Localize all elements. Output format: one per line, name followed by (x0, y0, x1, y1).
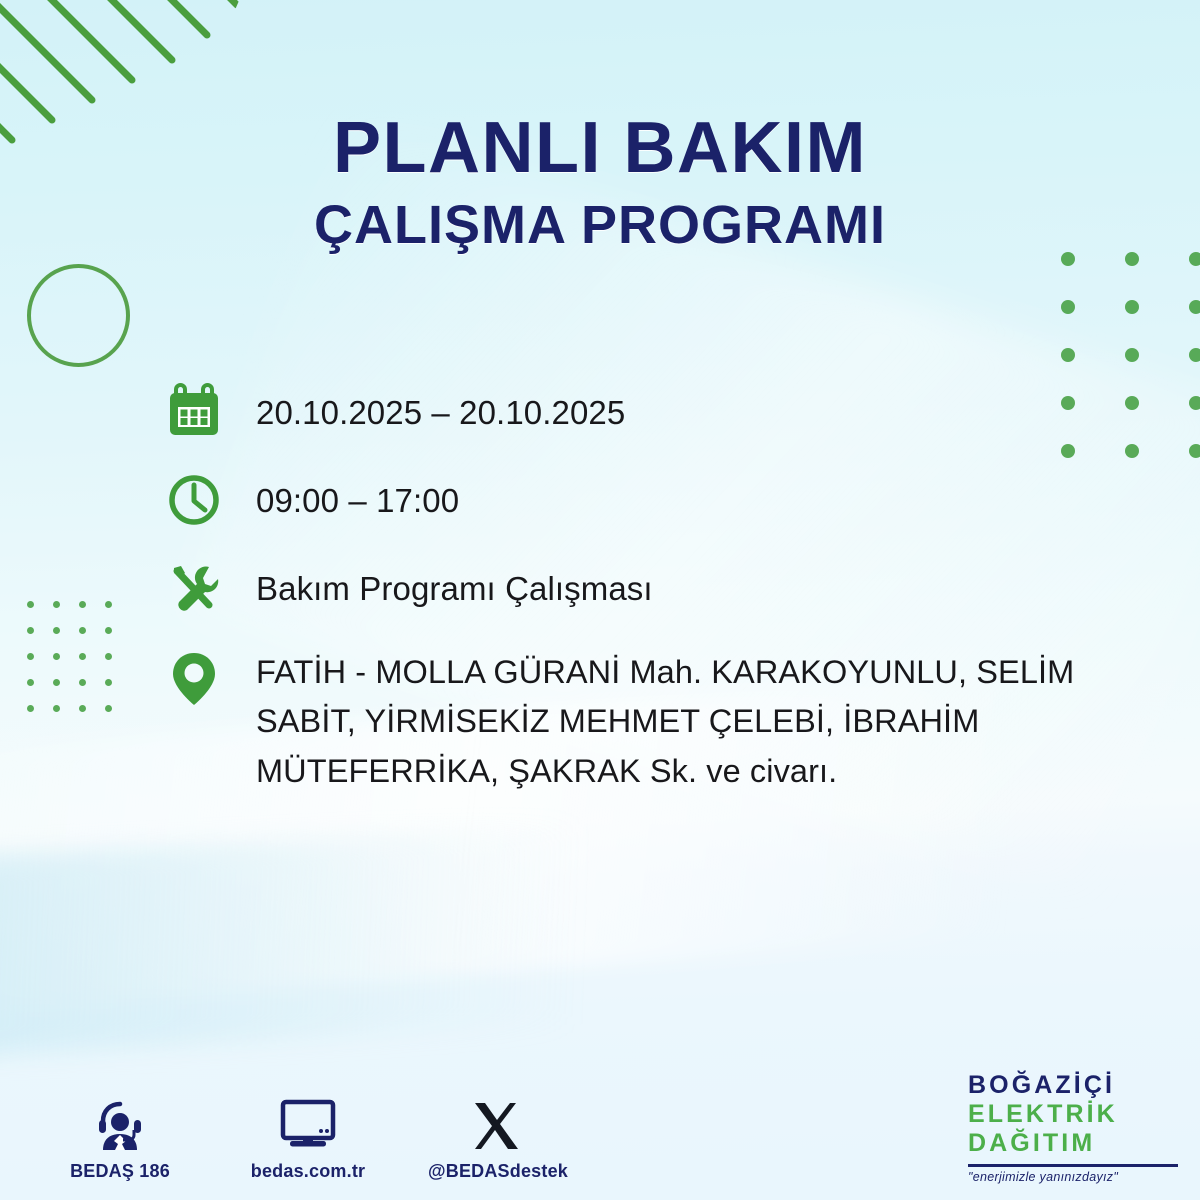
brand-tagline: "enerjimizle yanınızdayız" (968, 1170, 1178, 1184)
contact-item-website[interactable]: bedas.com.tr (240, 1090, 376, 1182)
footer: BEDAŞ 186 bedas.com.tr (0, 1020, 1200, 1200)
dot-grid-left-decoration (18, 592, 122, 722)
monitor-website-icon (240, 1090, 376, 1152)
x-social-icon (428, 1090, 564, 1152)
brand-line-dagitim: DAĞITIM (968, 1129, 1178, 1158)
calendar-icon (165, 380, 229, 444)
title-line-primary: PLANLI BAKIM (0, 112, 1200, 184)
title-line-secondary: ÇALIŞMA PROGRAMI (0, 198, 1200, 252)
headset-support-icon (52, 1090, 188, 1152)
contact-list: BEDAŞ 186 bedas.com.tr (52, 1090, 564, 1182)
brand-line-bogazici: BOĞAZİÇİ (968, 1071, 1178, 1100)
poster-canvas: PLANLI BAKIM ÇALIŞMA PROGRAMI (0, 0, 1200, 1200)
clock-icon (165, 468, 229, 532)
tools-icon (165, 556, 229, 620)
poster-title: PLANLI BAKIM ÇALIŞMA PROGRAMI (0, 112, 1200, 252)
contact-label-social: @BEDASdestek (428, 1161, 568, 1181)
circle-outline-decoration (27, 264, 130, 367)
detail-value-date: 20.10.2025 – 20.10.2025 (229, 380, 625, 437)
detail-value-time: 09:00 – 17:00 (229, 468, 459, 525)
detail-value-location: FATİH - MOLLA GÜRANİ Mah. KARAKOYUNLU, S… (229, 644, 1155, 796)
contact-label-call-center: BEDAŞ 186 (70, 1161, 170, 1181)
brand-line-elektrik: ELEKTRİK (968, 1100, 1178, 1129)
contact-item-call-center[interactable]: BEDAŞ 186 (52, 1090, 188, 1182)
detail-value-work: Bakım Programı Çalışması (229, 556, 653, 613)
contact-label-website: bedas.com.tr (251, 1161, 365, 1181)
location-pin-icon (165, 644, 229, 708)
detail-row-time: 09:00 – 17:00 (165, 468, 1155, 532)
brand-divider (968, 1164, 1178, 1167)
brand-logo: BOĞAZİÇİ ELEKTRİK DAĞITIM "enerjimizle y… (968, 1071, 1178, 1184)
detail-row-work: Bakım Programı Çalışması (165, 556, 1155, 620)
detail-row-location: FATİH - MOLLA GÜRANİ Mah. KARAKOYUNLU, S… (165, 644, 1155, 796)
details-list: 20.10.2025 – 20.10.2025 09:00 – 17:00 (165, 380, 1155, 796)
contact-item-social[interactable]: @BEDASdestek (428, 1090, 564, 1182)
detail-row-date: 20.10.2025 – 20.10.2025 (165, 380, 1155, 444)
background-sheen-lower (0, 779, 1200, 1060)
